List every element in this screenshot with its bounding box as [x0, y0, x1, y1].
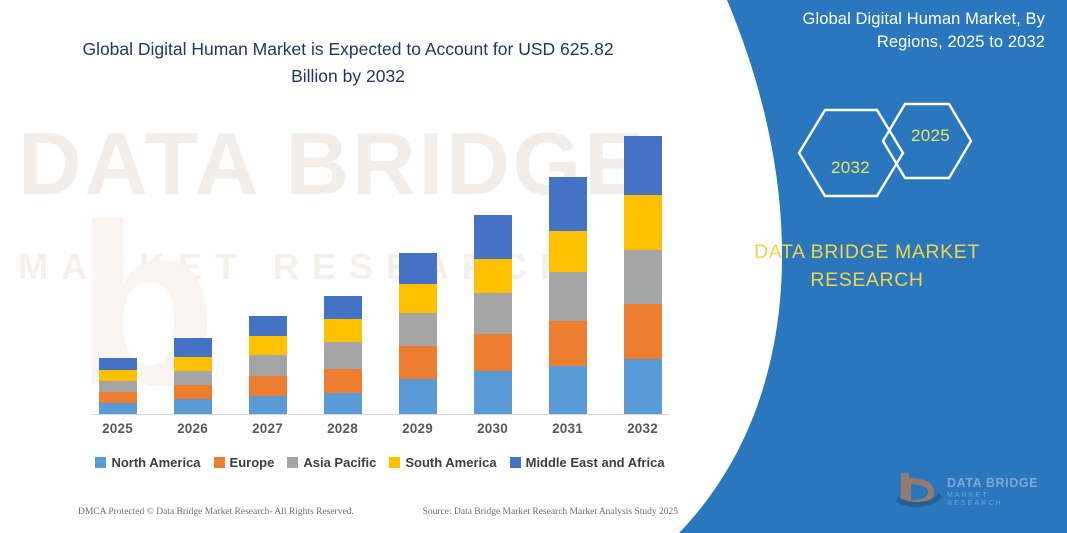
- bar-column-2027[interactable]: [233, 316, 303, 414]
- bar-segment[interactable]: [399, 313, 437, 346]
- bar-segment[interactable]: [174, 338, 212, 357]
- bar-segment[interactable]: [549, 272, 587, 321]
- stacked-bar[interactable]: [99, 358, 137, 414]
- stacked-bar[interactable]: [474, 215, 512, 414]
- legend-label: Middle East and Africa: [526, 455, 665, 470]
- legend-label: North America: [111, 455, 200, 470]
- bar-segment[interactable]: [549, 366, 587, 414]
- bar-segment[interactable]: [174, 385, 212, 399]
- bar-segment[interactable]: [624, 304, 662, 359]
- x-axis-label-2026: 2026: [158, 421, 228, 436]
- x-axis-labels: 20252026202720282029203020312032: [80, 421, 680, 436]
- bar-column-2028[interactable]: [308, 296, 378, 414]
- bar-group: [80, 122, 680, 414]
- x-axis-label-2025: 2025: [83, 421, 153, 436]
- bar-segment[interactable]: [174, 371, 212, 385]
- bar-column-2025[interactable]: [83, 358, 153, 414]
- bar-column-2029[interactable]: [383, 253, 453, 414]
- stacked-bar[interactable]: [399, 253, 437, 414]
- bar-segment[interactable]: [324, 296, 362, 319]
- bar-segment[interactable]: [99, 381, 137, 392]
- stacked-bar[interactable]: [624, 136, 662, 414]
- bar-segment[interactable]: [474, 334, 512, 371]
- bar-segment[interactable]: [474, 293, 512, 334]
- bar-segment[interactable]: [474, 259, 512, 293]
- chart-legend: North AmericaEuropeAsia PacificSouth Ame…: [60, 455, 700, 470]
- legend-swatch-icon: [389, 457, 400, 468]
- legend-item[interactable]: Europe: [214, 455, 275, 470]
- page-title: Global Digital Human Market is Expected …: [68, 36, 628, 89]
- bar-segment[interactable]: [624, 195, 662, 250]
- legend-label: Asia Pacific: [303, 455, 376, 470]
- bar-column-2030[interactable]: [458, 215, 528, 414]
- legend-item[interactable]: Asia Pacific: [287, 455, 376, 470]
- footer-source: Source: Data Bridge Market Research Mark…: [423, 507, 678, 517]
- bar-segment[interactable]: [324, 319, 362, 342]
- footer: DMCA Protected © Data Bridge Market Rese…: [78, 507, 678, 517]
- x-axis-label-2027: 2027: [233, 421, 303, 436]
- legend-swatch-icon: [510, 457, 521, 468]
- bar-segment[interactable]: [99, 392, 137, 403]
- legend-item[interactable]: South America: [389, 455, 496, 470]
- bar-segment[interactable]: [474, 215, 512, 259]
- chart-container: [80, 120, 680, 415]
- bar-segment[interactable]: [174, 399, 212, 414]
- plot-area: [80, 122, 680, 415]
- legend-item[interactable]: North America: [95, 455, 200, 470]
- bar-segment[interactable]: [399, 253, 437, 284]
- bar-segment[interactable]: [249, 355, 287, 376]
- bar-segment[interactable]: [324, 369, 362, 393]
- x-axis-label-2029: 2029: [383, 421, 453, 436]
- bar-segment[interactable]: [324, 342, 362, 369]
- bar-segment[interactable]: [249, 336, 287, 355]
- bar-segment[interactable]: [624, 136, 662, 195]
- bar-segment[interactable]: [249, 376, 287, 396]
- bar-segment[interactable]: [399, 284, 437, 313]
- bar-segment[interactable]: [624, 359, 662, 414]
- legend-swatch-icon: [95, 457, 106, 468]
- x-axis-label-2031: 2031: [533, 421, 603, 436]
- bar-segment[interactable]: [174, 357, 212, 371]
- legend-swatch-icon: [287, 457, 298, 468]
- bar-segment[interactable]: [474, 371, 512, 414]
- legend-item[interactable]: Middle East and Africa: [510, 455, 665, 470]
- x-axis-line: [92, 414, 670, 415]
- stacked-bar[interactable]: [249, 316, 287, 414]
- stacked-bar[interactable]: [174, 338, 212, 414]
- brand-panel: [667, 0, 1067, 533]
- stacked-bar[interactable]: [324, 296, 362, 414]
- bar-segment[interactable]: [549, 177, 587, 231]
- stacked-bar[interactable]: [549, 177, 587, 414]
- legend-label: Europe: [230, 455, 275, 470]
- bar-segment[interactable]: [399, 379, 437, 414]
- footer-copyright: DMCA Protected © Data Bridge Market Rese…: [78, 507, 354, 517]
- bar-segment[interactable]: [324, 393, 362, 414]
- x-axis-label-2030: 2030: [458, 421, 528, 436]
- bar-segment[interactable]: [249, 316, 287, 336]
- bar-segment[interactable]: [549, 321, 587, 366]
- bar-segment[interactable]: [624, 250, 662, 304]
- legend-label: South America: [405, 455, 496, 470]
- bar-segment[interactable]: [249, 396, 287, 414]
- bar-segment[interactable]: [99, 358, 137, 370]
- bar-segment[interactable]: [399, 346, 437, 379]
- legend-swatch-icon: [214, 457, 225, 468]
- bar-segment[interactable]: [99, 403, 137, 414]
- bar-column-2031[interactable]: [533, 177, 603, 414]
- bar-column-2026[interactable]: [158, 338, 228, 414]
- bar-segment[interactable]: [549, 231, 587, 272]
- infographic-root: b DATA BRIDGE MARKET RESEARCH Global Dig…: [0, 0, 1067, 533]
- x-axis-label-2028: 2028: [308, 421, 378, 436]
- bar-segment[interactable]: [99, 370, 137, 381]
